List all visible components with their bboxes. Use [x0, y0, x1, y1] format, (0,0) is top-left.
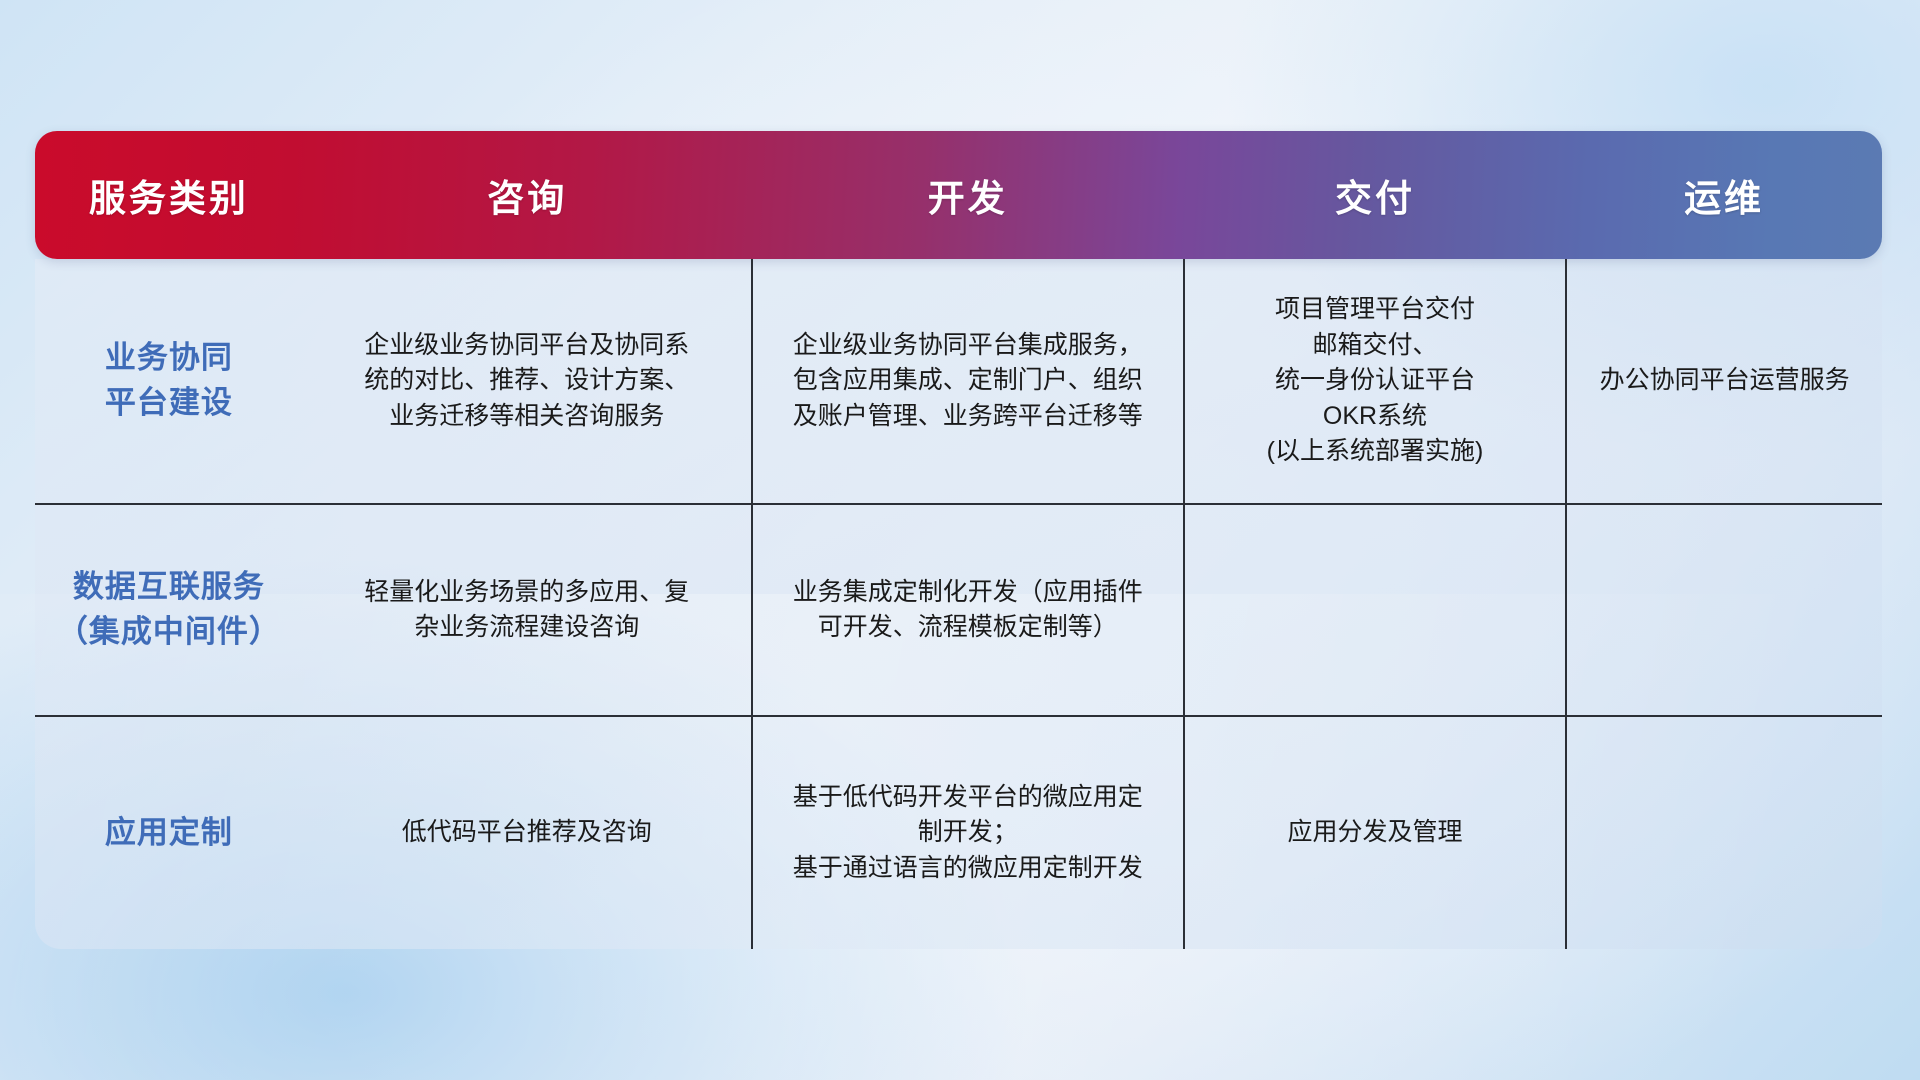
- cell-delivery-1: 项目管理平台交付 邮箱交付、 统一身份认证平台 OKR系统 (以上系统部署实施): [1184, 259, 1566, 504]
- header-row: 服务类别 咨询 开发 交付 运维: [35, 131, 1882, 259]
- cell-consulting-3: 低代码平台推荐及咨询: [303, 716, 752, 949]
- cell-operations-1: 办公协同平台运营服务: [1566, 259, 1882, 504]
- cell-category-1: 业务协同 平台建设: [35, 259, 303, 504]
- cell-delivery-2: [1184, 504, 1566, 716]
- cell-category-2: 数据互联服务 （集成中间件）: [35, 504, 303, 716]
- cell-operations-2: [1566, 504, 1882, 716]
- column-header-category[interactable]: 服务类别: [35, 131, 303, 259]
- table-head: 服务类别 咨询 开发 交付 运维: [35, 131, 1882, 259]
- cell-category-3: 应用定制: [35, 716, 303, 949]
- table-row: 业务协同 平台建设 企业级业务协同平台及协同系 统的对比、推荐、设计方案、 业务…: [35, 259, 1882, 504]
- column-header-delivery[interactable]: 交付: [1184, 131, 1566, 259]
- slide-canvas: 服务类别 咨询 开发 交付 运维 业务协同 平台建设 企业级业务协同平台及协同系…: [0, 0, 1920, 1080]
- cell-consulting-1: 企业级业务协同平台及协同系 统的对比、推荐、设计方案、 业务迁移等相关咨询服务: [303, 259, 752, 504]
- cell-development-1: 企业级业务协同平台集成服务， 包含应用集成、定制门户、组织 及账户管理、业务跨平…: [752, 259, 1184, 504]
- column-header-development[interactable]: 开发: [752, 131, 1184, 259]
- cell-delivery-3: 应用分发及管理: [1184, 716, 1566, 949]
- service-category-table: 服务类别 咨询 开发 交付 运维 业务协同 平台建设 企业级业务协同平台及协同系…: [35, 131, 1882, 949]
- table-row: 应用定制 低代码平台推荐及咨询 基于低代码开发平台的微应用定 制开发； 基于通过…: [35, 716, 1882, 949]
- cell-operations-3: [1566, 716, 1882, 949]
- cell-development-3: 基于低代码开发平台的微应用定 制开发； 基于通过语言的微应用定制开发: [752, 716, 1184, 949]
- column-header-consulting[interactable]: 咨询: [303, 131, 752, 259]
- column-header-operations[interactable]: 运维: [1566, 131, 1882, 259]
- table-row: 数据互联服务 （集成中间件） 轻量化业务场景的多应用、复 杂业务流程建设咨询 业…: [35, 504, 1882, 716]
- cell-development-2: 业务集成定制化开发（应用插件 可开发、流程模板定制等）: [752, 504, 1184, 716]
- cell-consulting-2: 轻量化业务场景的多应用、复 杂业务流程建设咨询: [303, 504, 752, 716]
- table-body: 业务协同 平台建设 企业级业务协同平台及协同系 统的对比、推荐、设计方案、 业务…: [35, 259, 1882, 949]
- service-table: 服务类别 咨询 开发 交付 运维 业务协同 平台建设 企业级业务协同平台及协同系…: [35, 131, 1882, 949]
